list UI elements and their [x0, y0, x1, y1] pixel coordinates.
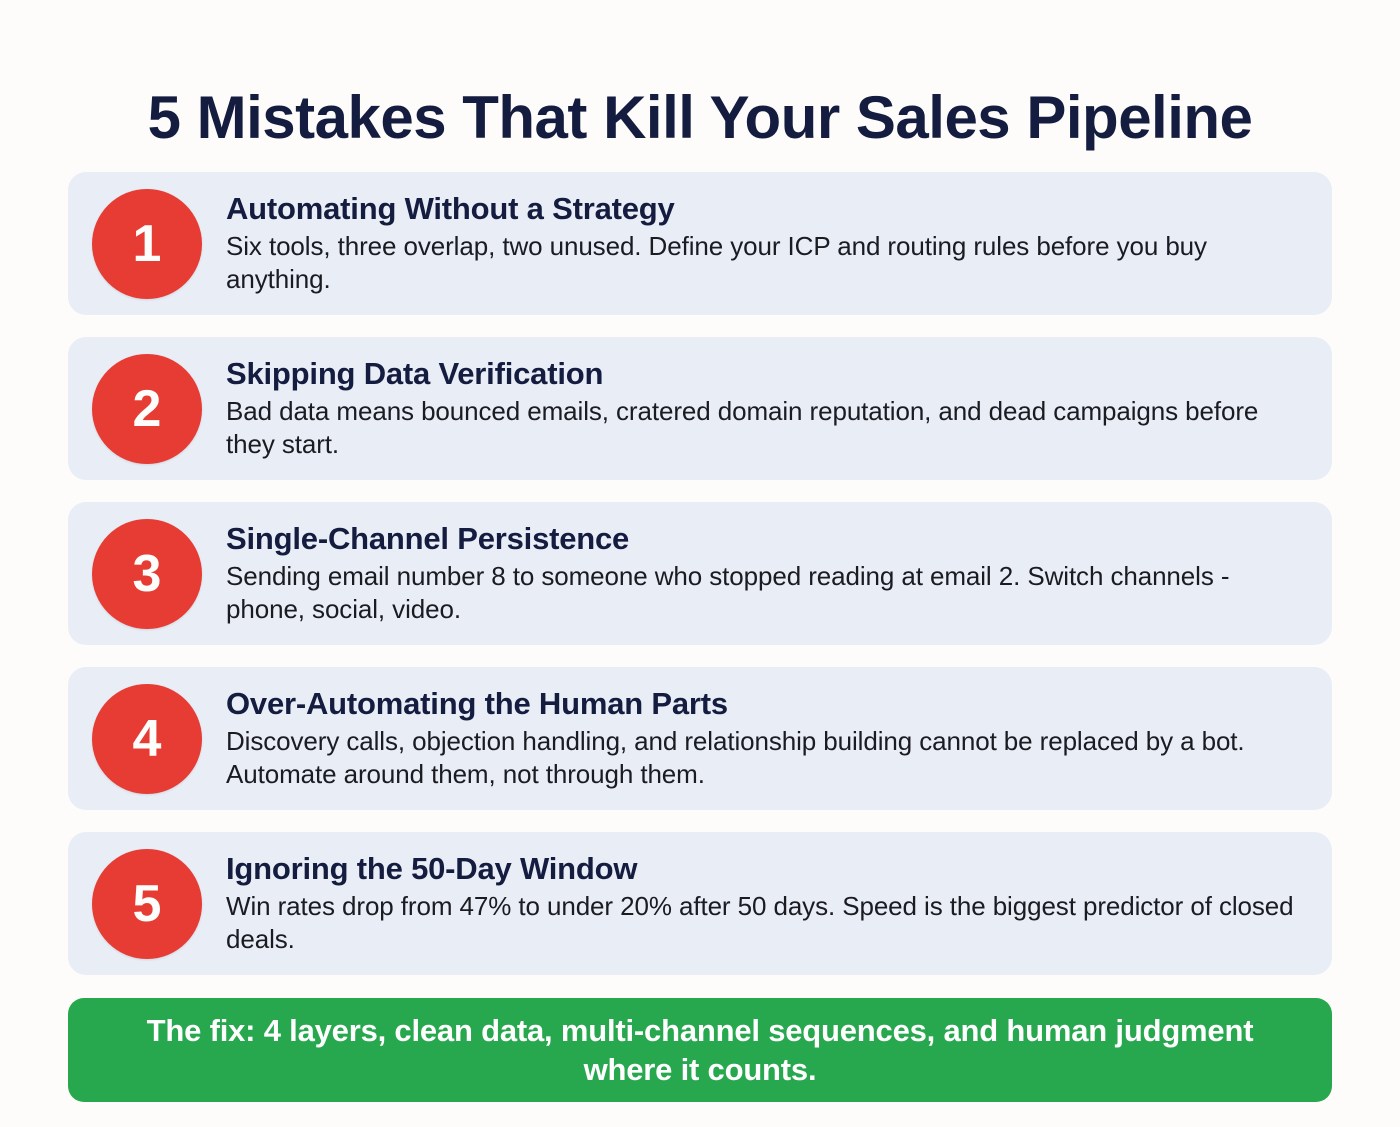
number-badge: 3	[92, 519, 202, 629]
card-body: Skipping Data Verification Bad data mean…	[226, 355, 1306, 463]
card-heading: Single-Channel Persistence	[226, 520, 1306, 558]
list-item: 5 Ignoring the 50-Day Window Win rates d…	[68, 832, 1332, 975]
card-description: Win rates drop from 47% to under 20% aft…	[226, 890, 1306, 956]
card-heading: Ignoring the 50-Day Window	[226, 850, 1306, 888]
footer-banner-text: The fix: 4 layers, clean data, multi-cha…	[108, 1011, 1292, 1089]
card-body: Automating Without a Strategy Six tools,…	[226, 190, 1306, 298]
card-body: Single-Channel Persistence Sending email…	[226, 520, 1306, 628]
card-description: Sending email number 8 to someone who st…	[226, 560, 1306, 626]
list-item: 4 Over-Automating the Human Parts Discov…	[68, 667, 1332, 810]
number-badge: 5	[92, 849, 202, 959]
infographic-page: 5 Mistakes That Kill Your Sales Pipeline…	[0, 0, 1400, 1127]
number-badge: 1	[92, 189, 202, 299]
number-badge: 4	[92, 684, 202, 794]
card-body: Ignoring the 50-Day Window Win rates dro…	[226, 850, 1306, 958]
card-heading: Automating Without a Strategy	[226, 190, 1306, 228]
card-description: Six tools, three overlap, two unused. De…	[226, 230, 1306, 296]
card-description: Discovery calls, objection handling, and…	[226, 725, 1306, 791]
list-item: 3 Single-Channel Persistence Sending ema…	[68, 502, 1332, 645]
card-description: Bad data means bounced emails, cratered …	[226, 395, 1306, 461]
list-item: 2 Skipping Data Verification Bad data me…	[68, 337, 1332, 480]
footer-banner: The fix: 4 layers, clean data, multi-cha…	[68, 998, 1332, 1102]
number-badge: 2	[92, 354, 202, 464]
list-item: 1 Automating Without a Strategy Six tool…	[68, 172, 1332, 315]
card-body: Over-Automating the Human Parts Discover…	[226, 685, 1306, 793]
page-title: 5 Mistakes That Kill Your Sales Pipeline	[0, 84, 1400, 152]
mistake-list: 1 Automating Without a Strategy Six tool…	[68, 172, 1332, 997]
card-heading: Over-Automating the Human Parts	[226, 685, 1306, 723]
card-heading: Skipping Data Verification	[226, 355, 1306, 393]
